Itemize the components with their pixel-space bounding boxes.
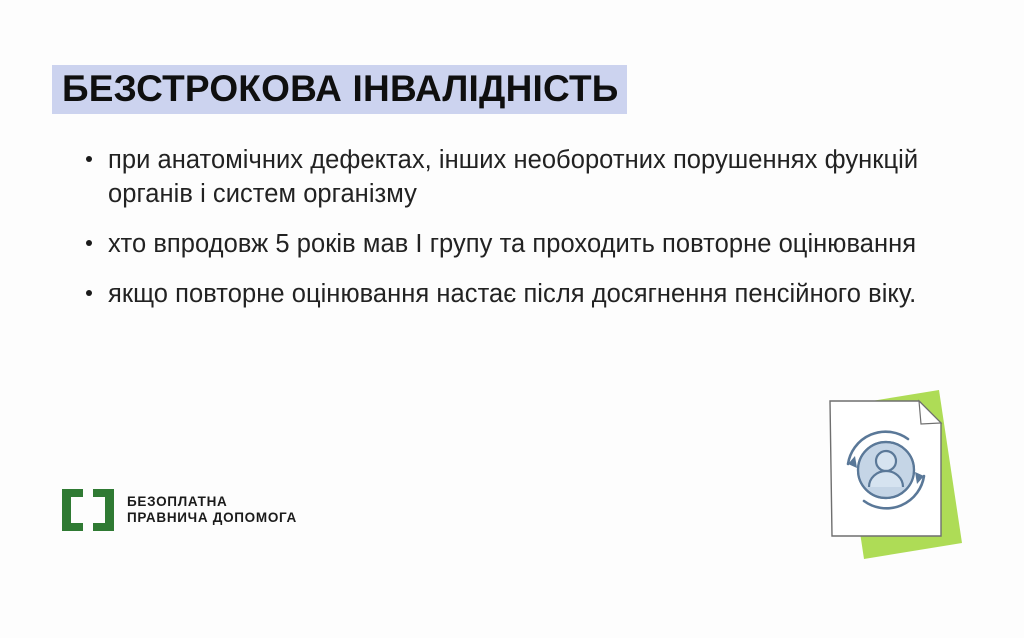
logo-wordmark: БЕЗОПЛАТНА ПРАВНИЧА ДОПОМОГА xyxy=(127,495,297,525)
list-item-label: при анатомічних дефектах, інших необорот… xyxy=(108,144,966,212)
bullet-dot-icon xyxy=(86,156,92,162)
page-title: БЕЗСТРОКОВА ІНВАЛІДНІСТЬ xyxy=(52,64,627,114)
slide-canvas: БЕЗСТРОКОВА ІНВАЛІДНІСТЬ при анатомічних… xyxy=(0,0,1024,638)
list-item: при анатомічних дефектах, інших необорот… xyxy=(86,144,966,212)
title-highlight-band: БЕЗСТРОКОВА ІНВАЛІДНІСТЬ xyxy=(52,65,627,114)
title-text: БЕЗСТРОКОВА ІНВАЛІДНІСТЬ xyxy=(62,68,619,109)
logo-line-2: ПРАВНИЧА ДОПОМОГА xyxy=(127,511,297,525)
organization-logo: БЕЗОПЛАТНА ПРАВНИЧА ДОПОМОГА xyxy=(62,489,297,531)
list-item-label: якщо повторне оцінювання настає після до… xyxy=(108,278,966,312)
illustration-graphic xyxy=(806,388,996,573)
bullet-list: при анатомічних дефектах, інших необорот… xyxy=(86,144,966,312)
bullet-dot-icon xyxy=(86,240,92,246)
bracket-pair-icon xyxy=(62,489,114,531)
logo-line-1: БЕЗОПЛАТНА xyxy=(127,495,297,509)
document-reassessment-illustration xyxy=(806,388,996,573)
list-item-label: хто впродовж 5 років мав I групу та прох… xyxy=(108,228,966,262)
list-item: якщо повторне оцінювання настає після до… xyxy=(86,278,966,312)
list-item: хто впродовж 5 років мав I групу та прох… xyxy=(86,228,966,262)
bullet-dot-icon xyxy=(86,290,92,296)
